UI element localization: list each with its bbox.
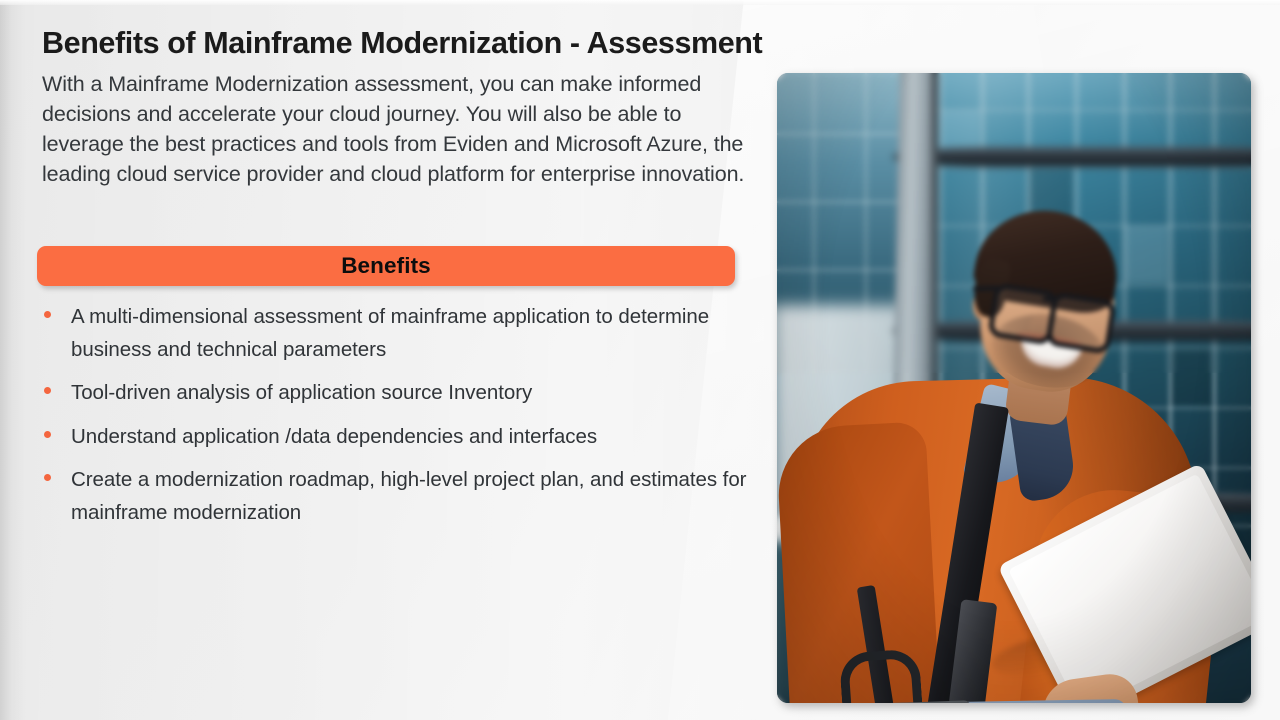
list-item: Understand application /data dependencie… [38, 420, 750, 453]
hero-photo [777, 73, 1251, 703]
list-item-label: Tool-driven analysis of application sour… [71, 376, 750, 409]
photo-person [777, 73, 1251, 703]
list-item-label: A multi-dimensional assessment of mainfr… [71, 300, 750, 366]
hero-photo-inner [777, 73, 1251, 703]
glasses-right-lens-icon [1045, 291, 1117, 354]
bullet-dot-icon [44, 431, 51, 438]
benefits-banner: Benefits [37, 246, 735, 286]
list-item-label: Understand application /data dependencie… [71, 420, 750, 453]
benefits-banner-label: Benefits [341, 253, 431, 279]
benefits-bullet-list: A multi-dimensional assessment of mainfr… [38, 300, 750, 539]
list-item: Tool-driven analysis of application sour… [38, 376, 750, 409]
bullet-dot-icon [44, 311, 51, 318]
bullet-dot-icon [44, 474, 51, 481]
page-title: Benefits of Mainframe Modernization - As… [42, 26, 762, 60]
list-item-label: Create a modernization roadmap, high-lev… [71, 463, 750, 529]
slide-content: Benefits of Mainframe Modernization - As… [0, 0, 770, 720]
intro-paragraph: With a Mainframe Modernization assessmen… [42, 70, 748, 190]
list-item: A multi-dimensional assessment of mainfr… [38, 300, 750, 366]
bullet-dot-icon [44, 387, 51, 394]
list-item: Create a modernization roadmap, high-lev… [38, 463, 750, 529]
slide: Benefits of Mainframe Modernization - As… [0, 0, 1280, 720]
